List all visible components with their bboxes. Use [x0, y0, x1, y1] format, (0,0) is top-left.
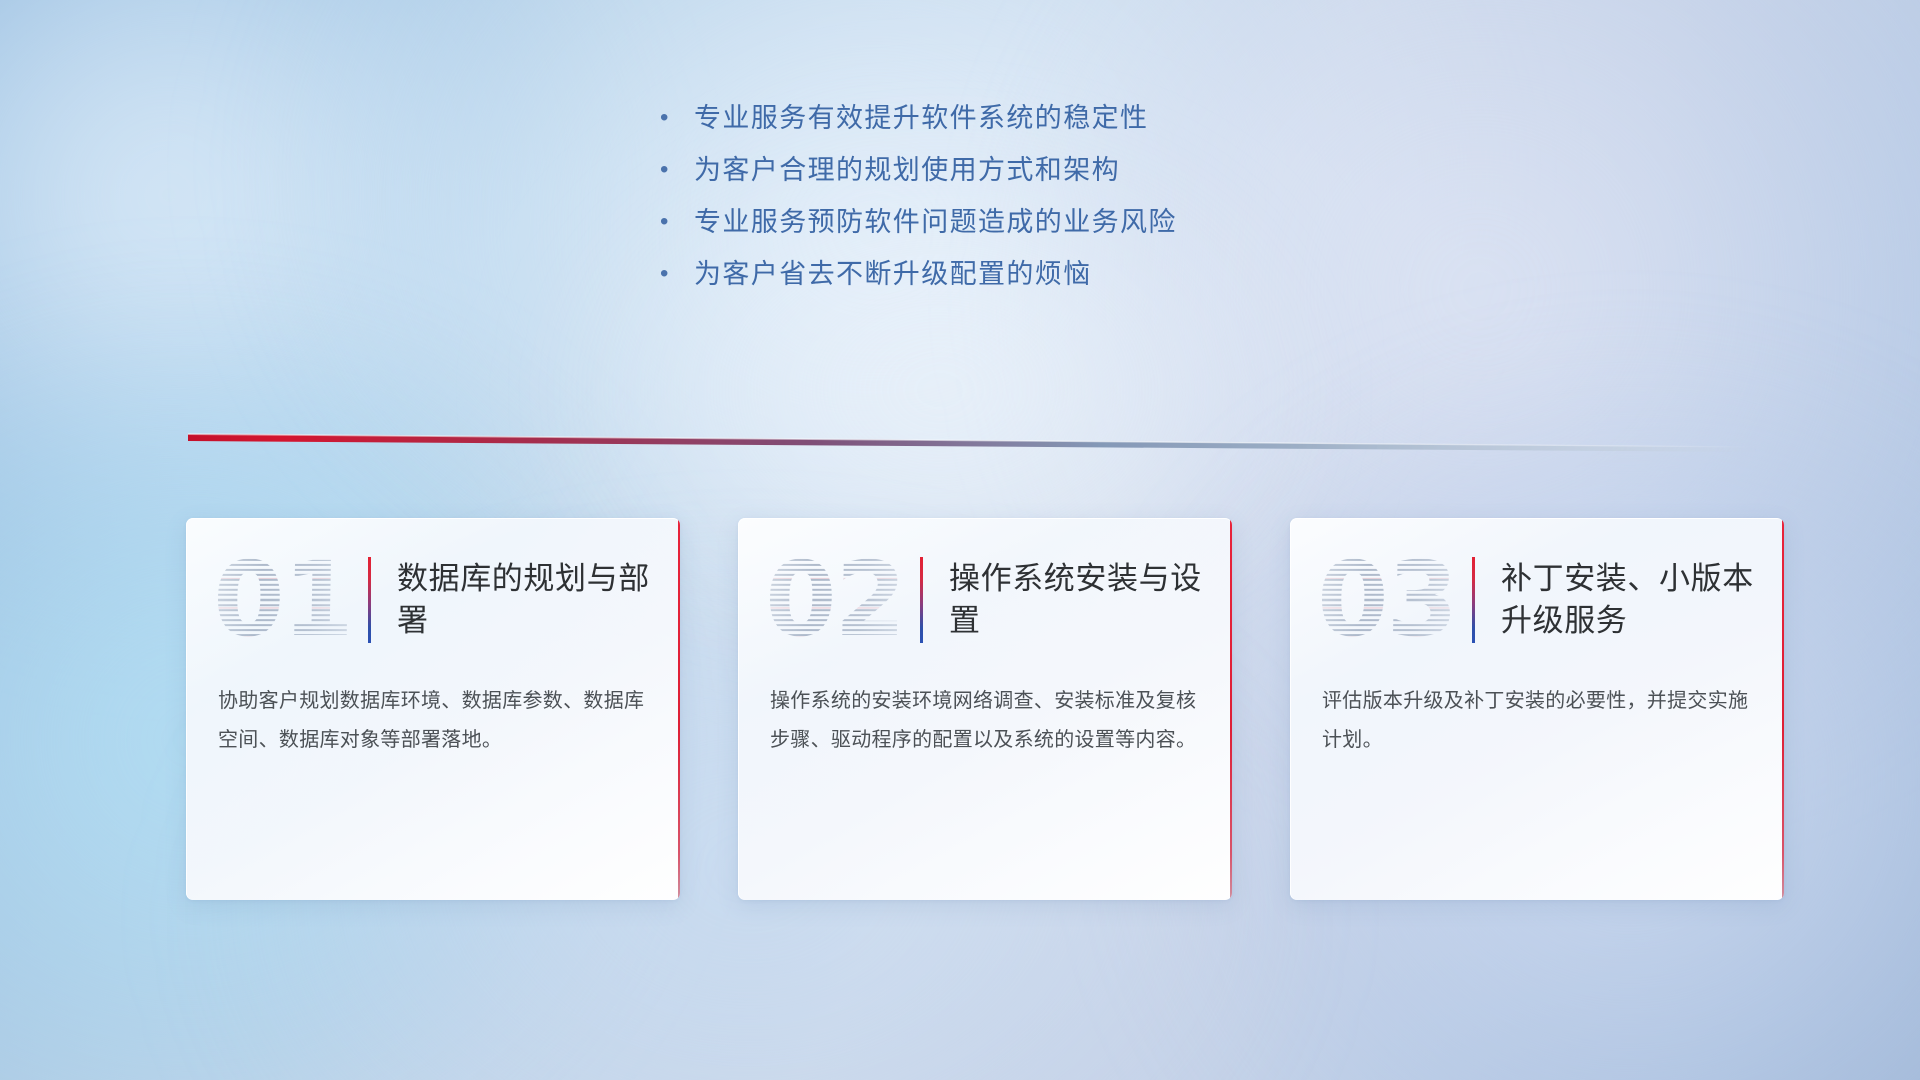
card-title: 数据库的规划与部署 — [397, 558, 680, 642]
service-card[interactable]: 02 操作系统安装与设置 操作系统的安装环境网络调查、安装标准及复核步骤、驱动程… — [738, 518, 1232, 900]
bullet-text: 专业服务预防软件问题造成的业务风险 — [694, 196, 1420, 248]
card-number-graphic: 03 — [1312, 540, 1462, 660]
service-card[interactable]: 01 数据库的规划与部署 协助客户规划数据库环境、数据库参数、数据库空间、数据库… — [186, 518, 680, 900]
card-number-label: 01 — [212, 549, 353, 652]
card-title: 补丁安装、小版本升级服务 — [1501, 558, 1784, 642]
card-description: 操作系统的安装环境网络调查、安装标准及复核步骤、驱动程序的配置以及系统的设置等内… — [738, 682, 1232, 760]
bullet-text: 专业服务有效提升软件系统的稳定性 — [694, 92, 1420, 144]
card-header: 03 补丁安装、小版本升级服务 — [1290, 518, 1784, 682]
service-card[interactable]: 03 补丁安装、小版本升级服务 评估版本升级及补丁安装的必要性，并提交实施计划。 — [1290, 518, 1784, 900]
service-cards-row: 01 数据库的规划与部署 协助客户规划数据库环境、数据库参数、数据库空间、数据库… — [186, 518, 1786, 928]
bullet-dot-icon: • — [660, 248, 694, 300]
list-item: • 为客户合理的规划使用方式和架构 — [660, 144, 1420, 196]
card-number-label: 03 — [1316, 549, 1457, 652]
bullet-dot-icon: • — [660, 196, 694, 248]
card-number-label: 02 — [764, 549, 905, 652]
card-description: 评估版本升级及补丁安装的必要性，并提交实施计划。 — [1290, 682, 1784, 760]
benefits-bullet-list: • 专业服务有效提升软件系统的稳定性 • 为客户合理的规划使用方式和架构 • 专… — [660, 92, 1420, 300]
card-number-graphic: 02 — [760, 540, 910, 660]
card-title-divider — [1472, 557, 1475, 643]
section-divider — [188, 428, 1760, 458]
card-title: 操作系统安装与设置 — [949, 558, 1232, 642]
card-description: 协助客户规划数据库环境、数据库参数、数据库空间、数据库对象等部署落地。 — [186, 682, 680, 760]
list-item: • 专业服务有效提升软件系统的稳定性 — [660, 92, 1420, 144]
list-item: • 专业服务预防软件问题造成的业务风险 — [660, 196, 1420, 248]
bullet-dot-icon: • — [660, 144, 694, 196]
card-title-divider — [920, 557, 923, 643]
bullet-text: 为客户合理的规划使用方式和架构 — [694, 144, 1420, 196]
card-header: 01 数据库的规划与部署 — [186, 518, 680, 682]
bullet-text: 为客户省去不断升级配置的烦恼 — [694, 248, 1420, 300]
card-title-divider — [368, 557, 371, 643]
list-item: • 为客户省去不断升级配置的烦恼 — [660, 248, 1420, 300]
card-number-graphic: 01 — [208, 540, 358, 660]
bullet-dot-icon: • — [660, 92, 694, 144]
card-header: 02 操作系统安装与设置 — [738, 518, 1232, 682]
